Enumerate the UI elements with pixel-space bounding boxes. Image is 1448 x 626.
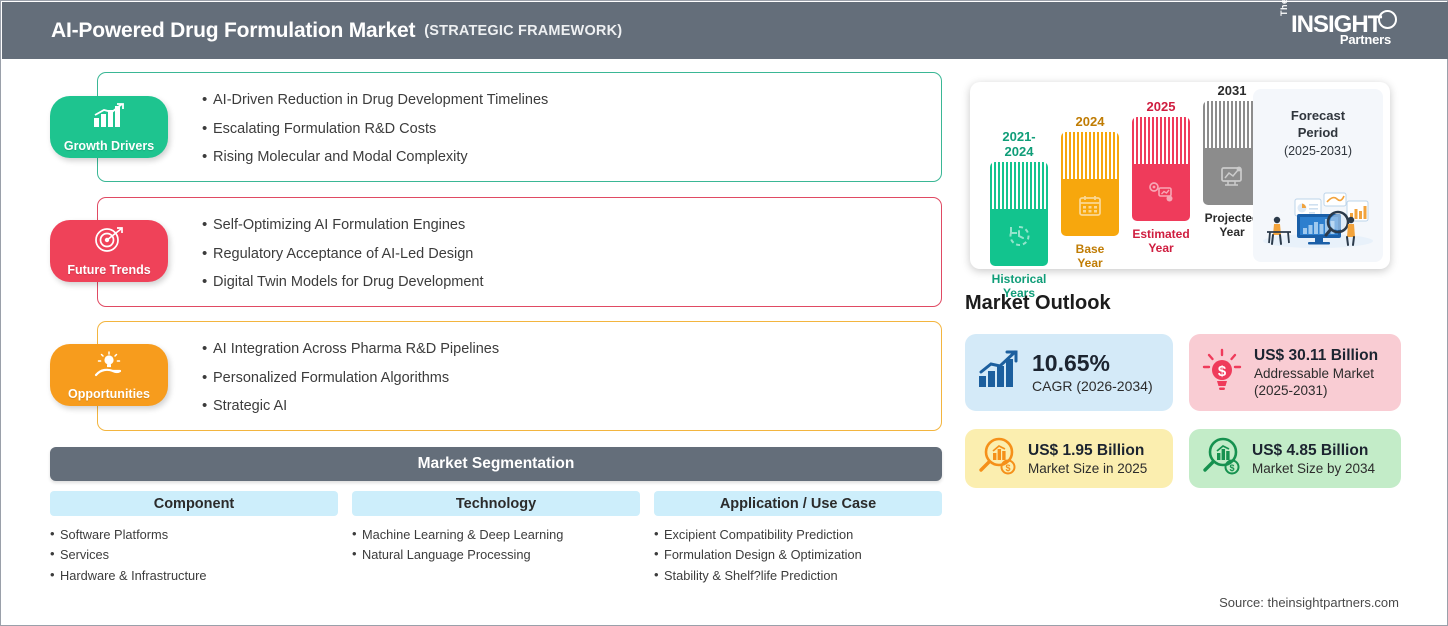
list-item: Self-Optimizing AI Formulation Engines — [202, 211, 941, 240]
infographic-frame: AI-Powered Drug Formulation Market (STRA… — [0, 0, 1448, 626]
list-item: Services — [50, 545, 338, 565]
growth-drivers-list: AI-Driven Reduction in Drug Development … — [98, 73, 941, 172]
timeline-bar-historical: 2021-2024 Historical Years — [990, 129, 1048, 300]
timeline-bar-graphic — [1132, 117, 1190, 221]
market-outlook-title: Market Outlook — [965, 292, 1111, 315]
outlook-card-market-size-2025: $ US$ 1.95 Billion Market Size in 2025 — [965, 429, 1173, 488]
timeline-caption: Estimated Year — [1132, 227, 1190, 255]
badge-opportunities[interactable]: Opportunities — [50, 344, 168, 406]
timeline-caption-line1: Estimated — [1132, 227, 1190, 241]
list-item: Hardware & Infrastructure — [50, 566, 338, 586]
bar-chart-arrow-icon — [92, 103, 126, 134]
outlook-card-cagr: 10.65% CAGR (2026-2034) — [965, 334, 1173, 411]
market-segmentation-header: Market Segmentation — [50, 447, 942, 481]
timeline-caption-line1: Base — [1061, 242, 1119, 256]
monitor-chart-icon — [1219, 165, 1245, 192]
svg-text:$: $ — [1229, 463, 1234, 473]
page-subtitle: (STRATEGIC FRAMEWORK) — [424, 23, 622, 39]
segment-title: Technology — [352, 491, 640, 516]
forecast-period-panel: Forecast Period (2025-2031) — [1253, 89, 1383, 262]
outlook-card-value: US$ 1.95 Billion — [1028, 441, 1147, 460]
badge-future-trends[interactable]: Future Trends — [50, 220, 168, 282]
outlook-card-text: US$ 1.95 Billion Market Size in 2025 — [1028, 441, 1147, 477]
timeline-bar-estimated: 2025 Estimated Year — [1132, 99, 1190, 255]
list-item: Software Platforms — [50, 525, 338, 545]
outlook-card-label: Market Size in 2025 — [1028, 460, 1147, 477]
timeline-caption: Base Year — [1061, 242, 1119, 270]
list-item: Formulation Design & Optimization — [654, 545, 942, 565]
future-trends-list: Self-Optimizing AI Formulation Engines R… — [98, 198, 941, 297]
badge-label: Future Trends — [67, 263, 150, 282]
timeline-bar-graphic — [1061, 132, 1119, 236]
panel-future-trends: Self-Optimizing AI Formulation Engines R… — [97, 197, 942, 307]
outlook-card-value: 10.65% — [1032, 350, 1153, 377]
timeline-caption-line2: Year — [1132, 241, 1190, 255]
timeline-caption-line1: Historical — [990, 272, 1048, 286]
forecast-title-line2: Period — [1253, 124, 1383, 141]
magnifier-chart-dollar-icon: $ — [1201, 436, 1241, 481]
list-item: Regulatory Acceptance of AI-Led Design — [202, 240, 941, 269]
timeline-year: 2021-2024 — [990, 129, 1048, 159]
outlook-card-text: US$ 4.85 Billion Market Size by 2034 — [1252, 441, 1375, 477]
opportunities-list: AI Integration Across Pharma R&D Pipelin… — [98, 322, 941, 421]
segment-title: Application / Use Case — [654, 491, 942, 516]
list-item: Stability & Shelf?life Prediction — [654, 566, 942, 586]
timeline-bar-stripe — [1061, 132, 1119, 179]
outlook-card-text: US$ 30.11 Billion Addressable Market (20… — [1254, 346, 1378, 399]
timeline-bar-stripe — [1132, 117, 1190, 164]
outlook-card-value: US$ 4.85 Billion — [1252, 441, 1375, 460]
timeline-year: 2024 — [1061, 114, 1119, 129]
target-dart-icon — [93, 227, 125, 258]
logo-partners-text: Partners — [1340, 32, 1391, 47]
segment-item-list: Excipient Compatibility Prediction Formu… — [654, 525, 942, 586]
svg-text:$: $ — [1005, 463, 1010, 473]
logo-the-text: The — [1279, 0, 1289, 16]
outlook-card-label: CAGR (2026-2034) — [1032, 377, 1153, 395]
list-item: Escalating Formulation R&D Costs — [202, 115, 941, 144]
lightbulb-hand-icon — [92, 351, 126, 386]
segmentation-columns: Component Software Platforms Services Ha… — [50, 491, 942, 586]
list-item: Machine Learning & Deep Learning — [352, 525, 640, 545]
outlook-card-label: Addressable Market — [1254, 365, 1378, 382]
list-item: Excipient Compatibility Prediction — [654, 525, 942, 545]
outlook-card-value: US$ 30.11 Billion — [1254, 346, 1378, 365]
outlook-card-market-size-2034: $ US$ 4.85 Billion Market Size by 2034 — [1189, 429, 1401, 488]
source-attribution: Source: theinsightpartners.com — [1219, 595, 1399, 610]
list-item: Digital Twin Models for Drug Development — [202, 268, 941, 297]
insight-partners-logo: The INSIGHT Partners — [1279, 9, 1399, 51]
svg-text:$: $ — [1218, 363, 1227, 380]
timeline-bar-stripe — [990, 162, 1048, 209]
history-clock-icon — [1007, 224, 1031, 253]
list-item: Personalized Formulation Algorithms — [202, 364, 941, 393]
list-item: Rising Molecular and Modal Complexity — [202, 143, 941, 172]
segmentation-column-component: Component Software Platforms Services Ha… — [50, 491, 338, 586]
forecast-title: Forecast Period — [1253, 89, 1383, 141]
logo-ring-icon — [1378, 10, 1397, 29]
segment-item-list: Machine Learning & Deep Learning Natural… — [352, 525, 640, 566]
panel-opportunities: AI Integration Across Pharma R&D Pipelin… — [97, 321, 942, 431]
badge-label: Opportunities — [68, 387, 150, 406]
growth-bar-chart-icon — [977, 350, 1021, 395]
timeline-caption-line2: Year — [1061, 256, 1119, 270]
timeline-bar-graphic — [990, 162, 1048, 266]
panel-growth-drivers: AI-Driven Reduction in Drug Development … — [97, 72, 942, 182]
timeline-bar-base: 2024 Base Year — [1061, 114, 1119, 270]
segmentation-column-technology: Technology Machine Learning & Deep Learn… — [352, 491, 640, 586]
market-segmentation-title: Market Segmentation — [418, 455, 575, 473]
forecast-title-line1: Forecast — [1253, 107, 1383, 124]
magnifier-chart-dollar-icon: $ — [977, 436, 1017, 481]
badge-growth-drivers[interactable]: Growth Drivers — [50, 96, 168, 158]
outlook-card-addressable-market: $ US$ 30.11 Billion Addressable Market (… — [1189, 334, 1401, 411]
list-item: Natural Language Processing — [352, 545, 640, 565]
timeline-year: 2025 — [1132, 99, 1190, 114]
outlook-card-text: 10.65% CAGR (2026-2034) — [1032, 350, 1153, 395]
page-title: AI-Powered Drug Formulation Market — [51, 19, 415, 43]
list-item: AI Integration Across Pharma R&D Pipelin… — [202, 335, 941, 364]
header-bar: AI-Powered Drug Formulation Market (STRA… — [2, 2, 1448, 59]
gear-chart-icon — [1148, 181, 1174, 208]
lightbulb-dollar-icon: $ — [1201, 348, 1243, 397]
segmentation-column-application: Application / Use Case Excipient Compati… — [654, 491, 942, 586]
calendar-icon — [1078, 194, 1102, 223]
segment-title: Component — [50, 491, 338, 516]
outlook-card-label-secondary: (2025-2031) — [1254, 382, 1378, 399]
list-item: Strategic AI — [202, 392, 941, 421]
forecast-range: (2025-2031) — [1253, 141, 1383, 158]
list-item: AI-Driven Reduction in Drug Development … — [202, 86, 941, 115]
outlook-card-label: Market Size by 2034 — [1252, 460, 1375, 477]
segment-item-list: Software Platforms Services Hardware & I… — [50, 525, 338, 586]
badge-label: Growth Drivers — [64, 139, 154, 158]
analytics-team-illustration — [1261, 187, 1375, 254]
market-timeline-card: 2021-2024 Historical Years 2024 — [970, 82, 1390, 269]
